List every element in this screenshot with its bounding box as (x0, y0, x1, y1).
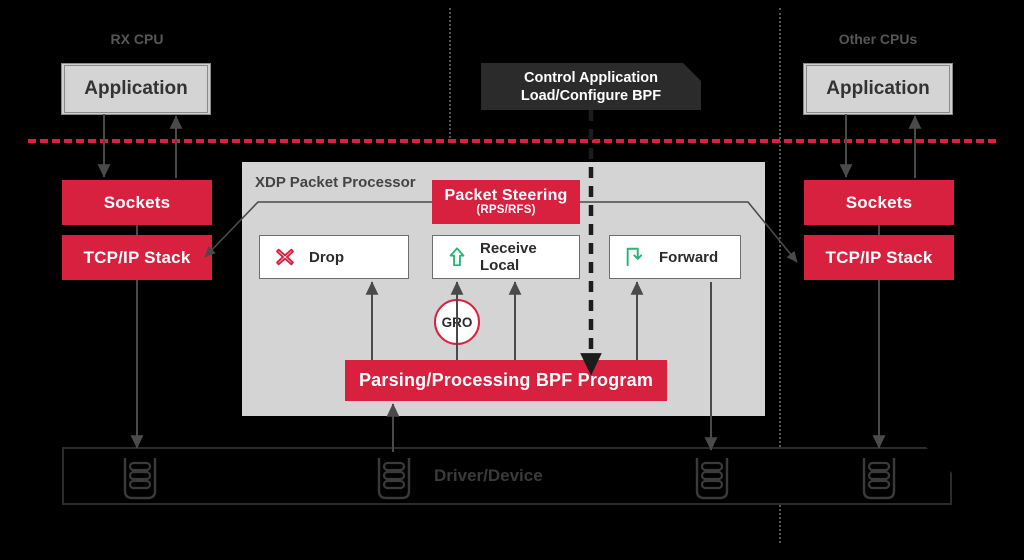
separator-dotted-left (449, 8, 451, 138)
sockets-box-left[interactable]: Sockets (62, 180, 212, 225)
application-label-right: Application (826, 78, 929, 100)
driver-device-label: Driver/Device (434, 466, 543, 486)
queue-icon-1[interactable] (119, 455, 161, 506)
green-up-arrow-icon (447, 246, 467, 268)
action-box-forward[interactable]: Forward (609, 235, 741, 279)
application-label-right-wrap: Application (806, 65, 950, 113)
cpu-label-left: RX CPU (72, 31, 202, 47)
xdp-title: XDP Packet Processor (255, 174, 416, 191)
green-redirect-arrow-icon (624, 246, 646, 268)
queue-icon-2[interactable] (373, 455, 415, 506)
action-box-drop[interactable]: Drop (259, 235, 409, 279)
user-kernel-boundary-line (28, 139, 996, 143)
application-label-left: Application (84, 78, 187, 100)
red-x-icon (274, 246, 296, 268)
packet-steering-line1: Packet Steering (444, 188, 567, 205)
tcpip-box-right[interactable]: TCP/IP Stack (804, 235, 954, 280)
action-label-drop: Drop (309, 249, 344, 266)
bpf-program-box[interactable]: Parsing/Processing BPF Program (345, 360, 667, 401)
gro-node[interactable]: GRO (434, 299, 480, 345)
cpu-label-right: Other CPUs (813, 31, 943, 47)
diagram-canvas: RX CPU Other CPUs Application Applicatio… (0, 0, 1024, 560)
sockets-box-right[interactable]: Sockets (804, 180, 954, 225)
action-box-receive-local[interactable]: Receive Local (432, 235, 580, 279)
control-application-line2: Load/Configure BPF (521, 87, 661, 105)
action-label-receive-local: Receive Local (480, 240, 579, 274)
application-label-left-wrap: Application (64, 65, 208, 113)
control-application-box[interactable]: Control Application Load/Configure BPF (481, 63, 701, 110)
application-box-left[interactable]: Application (62, 64, 210, 114)
queue-icon-4[interactable] (858, 455, 900, 506)
packet-steering-box[interactable]: Packet Steering (RPS/RFS) (432, 180, 580, 224)
packet-steering-line2: (RPS/RFS) (476, 204, 535, 216)
control-application-text: Control Application Load/Configure BPF (521, 69, 661, 105)
queue-icon-3[interactable] (691, 455, 733, 506)
tcpip-box-left[interactable]: TCP/IP Stack (62, 235, 212, 280)
application-box-right[interactable]: Application (804, 64, 952, 114)
control-application-line1: Control Application (521, 69, 661, 87)
action-label-forward: Forward (659, 249, 718, 266)
